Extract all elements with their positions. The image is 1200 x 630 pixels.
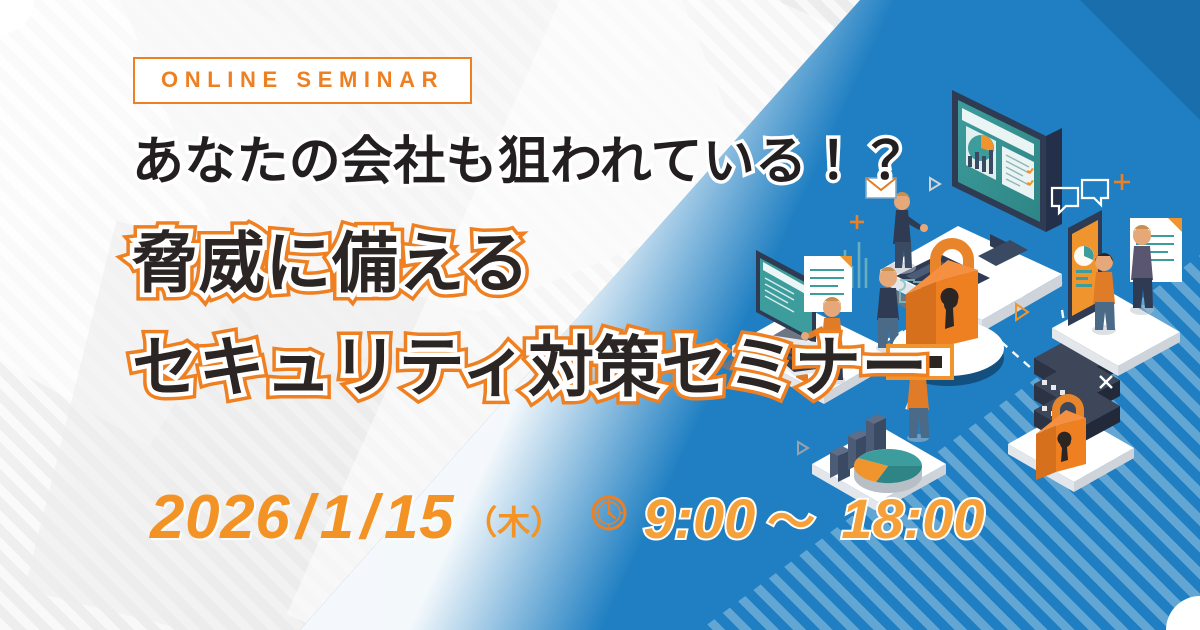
date-weekday: （木） — [464, 506, 563, 539]
plus-accent-right — [1114, 174, 1130, 190]
person-tablet-navy — [1130, 225, 1154, 315]
isometric-illustration — [690, 60, 1200, 520]
triangle-accent-chart — [798, 442, 808, 454]
seminar-banner: ONLINE SEMINAR あなたの会社も狙われている！？ 脅威に備える 脅威… — [0, 0, 1200, 630]
time-separator: 〜 — [767, 499, 815, 547]
time-end: 18:00 — [841, 491, 984, 547]
date-slash-1: / — [290, 487, 319, 549]
date-month: 1 — [320, 487, 355, 549]
date-day: 15 — [384, 487, 454, 549]
subtitle-line-2: セキュリティ対策セミナー セキュリティ対策セミナー セキュリティ対策セミナー セ… — [132, 331, 928, 404]
clock-icon — [589, 493, 629, 538]
triangle-accent-left — [930, 178, 940, 190]
date-time-row: 2026 / 1 / 15 （木） 9:00 〜 18:00 — [150, 487, 985, 549]
subtitle-line-2-fill: セキュリティ対策セミナー — [132, 331, 928, 404]
date-year: 2026 — [150, 487, 290, 549]
headline: あなたの会社も狙われている！？ — [132, 133, 912, 191]
date-slash-2: / — [355, 487, 384, 549]
time-start: 9:00 — [643, 491, 755, 547]
subtitle-line-1: 脅威に備える 脅威に備える 脅威に備える 脅威に備える — [132, 227, 530, 300]
plus-accent-left — [850, 215, 864, 229]
subtitle-line-1-fill: 脅威に備える — [132, 227, 530, 300]
online-seminar-badge: ONLINE SEMINAR — [133, 57, 472, 104]
